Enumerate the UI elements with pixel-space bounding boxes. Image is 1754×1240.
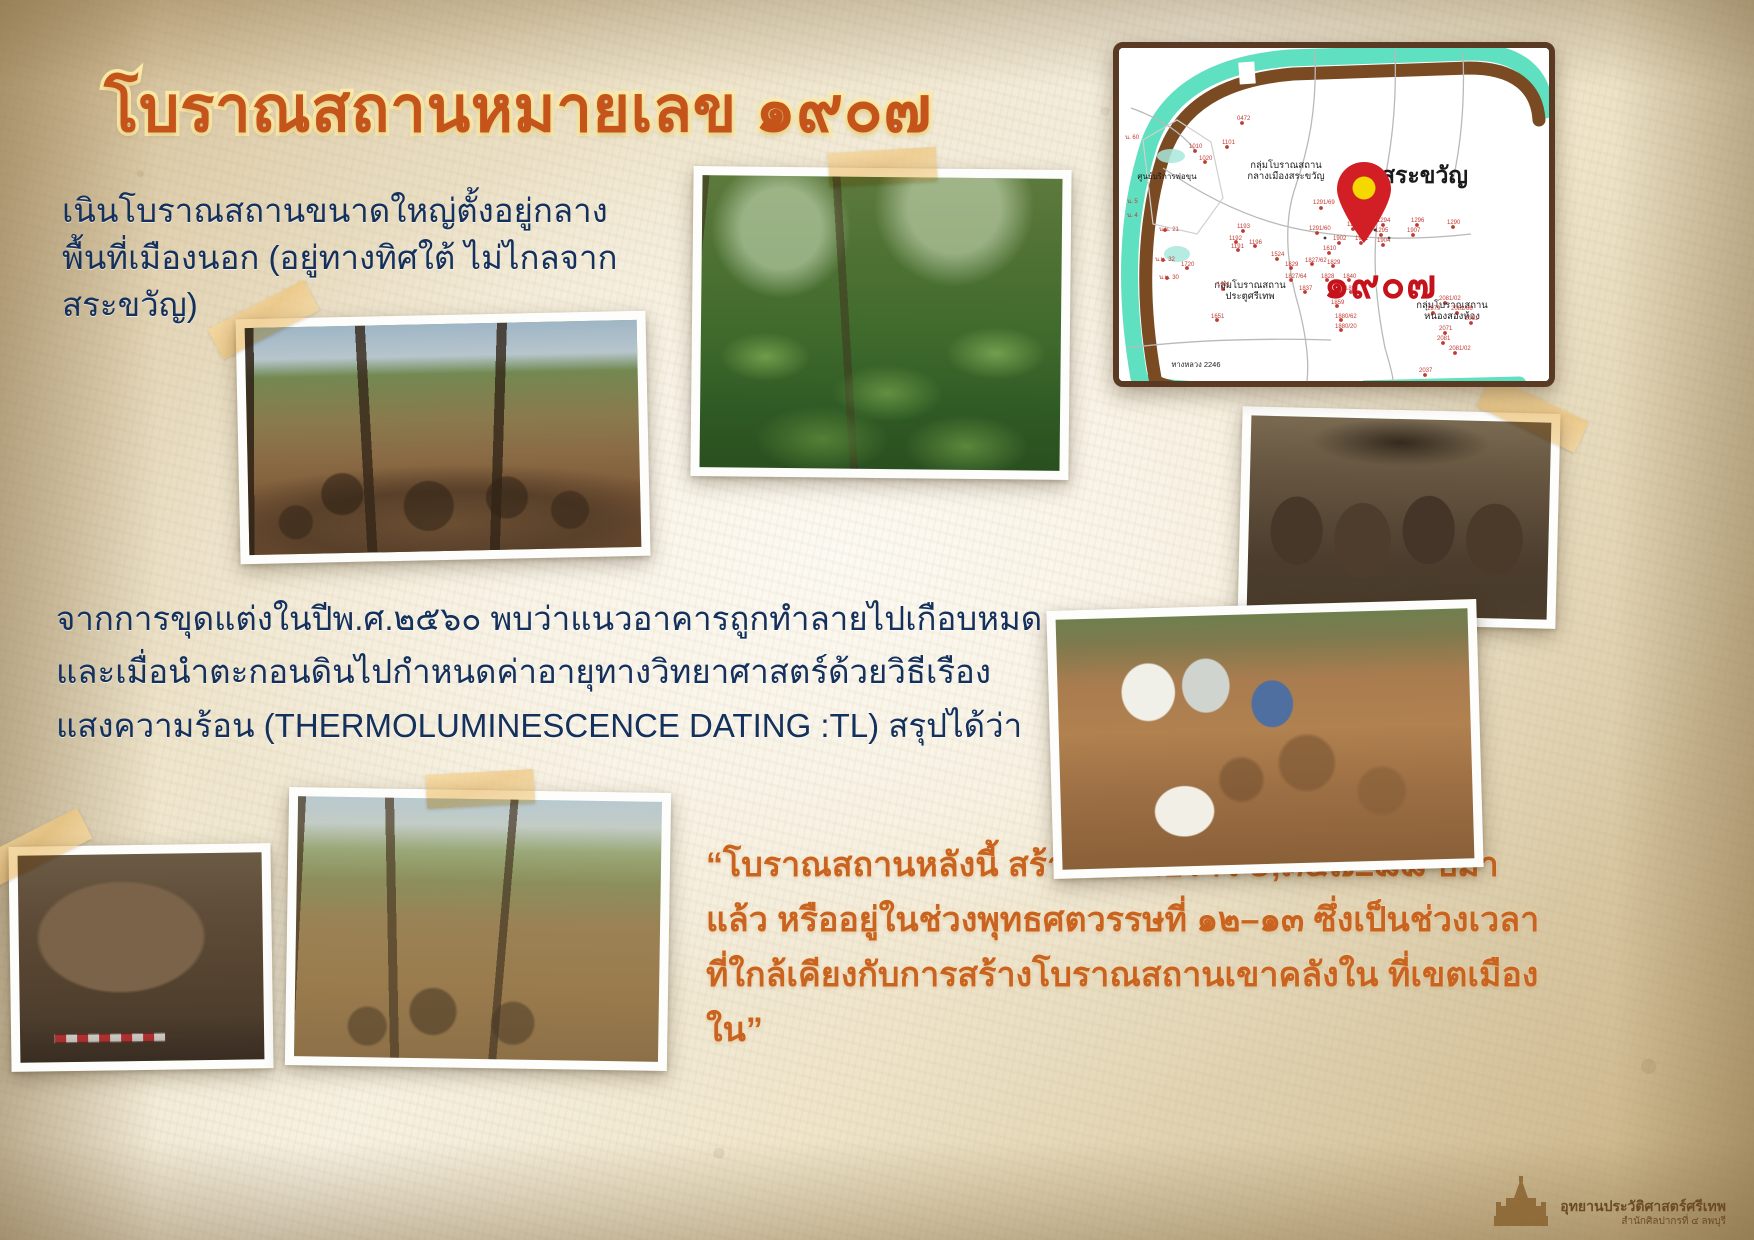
map-site-number: 2081 xyxy=(1437,336,1450,342)
map-site-number: 1524 xyxy=(1271,252,1284,258)
map-site-number: น.น. 21 xyxy=(1159,224,1179,234)
map-site-number: น. 60 xyxy=(1125,132,1139,142)
map-site-number: 2081/02 xyxy=(1449,346,1471,352)
footer-office-name: สำนักศิลปากรที่ ๔ ลพบุรี xyxy=(1560,1216,1726,1229)
map-label-sithep-gate-group: กลุ่มโบราณสถาน ประตูศรีเทพ xyxy=(1195,280,1305,303)
findings-paragraph: จากการขุดแต่งในปีพ.ศ.๒๕๖๐ พบว่าแนวอาคารถ… xyxy=(56,592,1046,752)
map-site-1907-label: ๑๙๐๗ xyxy=(1324,252,1437,316)
poster-canvas: โบราณสถานหมายเลข ๑๙๐๗ เนินโบราณสถานขนาดใ… xyxy=(0,0,1754,1240)
map-site-number: 1829 xyxy=(1285,262,1298,268)
map-site-number: 1290 xyxy=(1447,220,1460,226)
photo-image xyxy=(245,320,642,555)
map-site-number: น. 4 xyxy=(1127,210,1138,220)
map-site-number: 1020 xyxy=(1199,156,1212,162)
photo-dense-jungle xyxy=(690,166,1071,480)
photo-image xyxy=(1247,415,1552,619)
footer-credit: อุทยานประวัติศาสตร์ศรีเทพ สำนักศิลปากรที… xyxy=(1492,1176,1726,1228)
map-site-number: 1193 xyxy=(1237,224,1250,230)
map-site-number: 1291/60 xyxy=(1309,226,1331,232)
map-site-number: 1196 xyxy=(1249,240,1262,246)
map-site-number: 1010 xyxy=(1189,144,1202,150)
footer-org-name: อุทยานประวัติศาสตร์ศรีเทพ xyxy=(1560,1198,1726,1216)
map-site-number: 1827/64 xyxy=(1285,274,1307,280)
map-site-number: น. 5 xyxy=(1127,196,1138,206)
photo-image xyxy=(18,852,265,1062)
intro-paragraph: เนินโบราณสถานขนาดใหญ่ตั้งอยู่กลางพื้นที่… xyxy=(62,188,662,329)
map-site-number: 1611 xyxy=(1217,282,1230,288)
map-label-service-center: ศูนย์บริการพ่อขุน xyxy=(1125,172,1209,182)
tape-strip-icon xyxy=(425,769,535,809)
map-site-number: 1296 xyxy=(1411,218,1424,224)
tape-strip-icon xyxy=(828,147,938,187)
map-site-number: 2081/66 xyxy=(1451,306,1473,312)
map-label-central-group: กลุ่มโบราณสถาน กลางเมืองสระขวัญ xyxy=(1227,160,1345,183)
map-pin-icon[interactable] xyxy=(1333,160,1395,244)
map-site-number: 2037 xyxy=(1419,368,1432,374)
map-site-number: 2061 xyxy=(1465,316,1478,322)
photo-dry-forest-mound xyxy=(285,787,671,1071)
map-site-number: น.น. 32 xyxy=(1155,254,1175,264)
map-site-number: 1101 xyxy=(1222,140,1235,146)
map-site-number: 1192 xyxy=(1229,236,1242,242)
photo-laterite-blocks xyxy=(1237,406,1560,629)
temple-silhouette-icon xyxy=(1492,1176,1550,1228)
map-site-number: 1837 xyxy=(1299,286,1312,292)
photo-image xyxy=(294,796,662,1062)
scale-bar-icon xyxy=(54,1033,166,1044)
page-title: โบราณสถานหมายเลข ๑๙๐๗ xyxy=(104,58,932,160)
map-site-number: 1191 xyxy=(1231,244,1244,250)
map-site-number: 1880/20 xyxy=(1335,324,1357,330)
photo-excavation-team xyxy=(1046,599,1483,879)
map-site-number: น.น. 30 xyxy=(1159,272,1179,282)
photo-brick-detail xyxy=(8,843,273,1072)
map-site-number: 1651 xyxy=(1211,314,1224,320)
map-site-number: 1720 xyxy=(1181,262,1194,268)
photo-image xyxy=(1056,608,1475,869)
photo-hill-excavation xyxy=(235,311,650,565)
map-site-number: 1907 xyxy=(1407,228,1420,234)
photo-image xyxy=(699,175,1062,471)
map-site-number: 1291/69 xyxy=(1313,200,1335,206)
map-site-number: 0472 xyxy=(1237,116,1250,122)
map-site-number: 2071 xyxy=(1439,326,1452,332)
map-label-highway: ทางหลวง 2246 xyxy=(1151,360,1241,369)
location-map-card[interactable]: สระขวัญ กลุ่มโบราณสถาน กลางเมืองสระขวัญ … xyxy=(1113,42,1555,387)
map-site-number: 2081/02 xyxy=(1439,296,1461,302)
